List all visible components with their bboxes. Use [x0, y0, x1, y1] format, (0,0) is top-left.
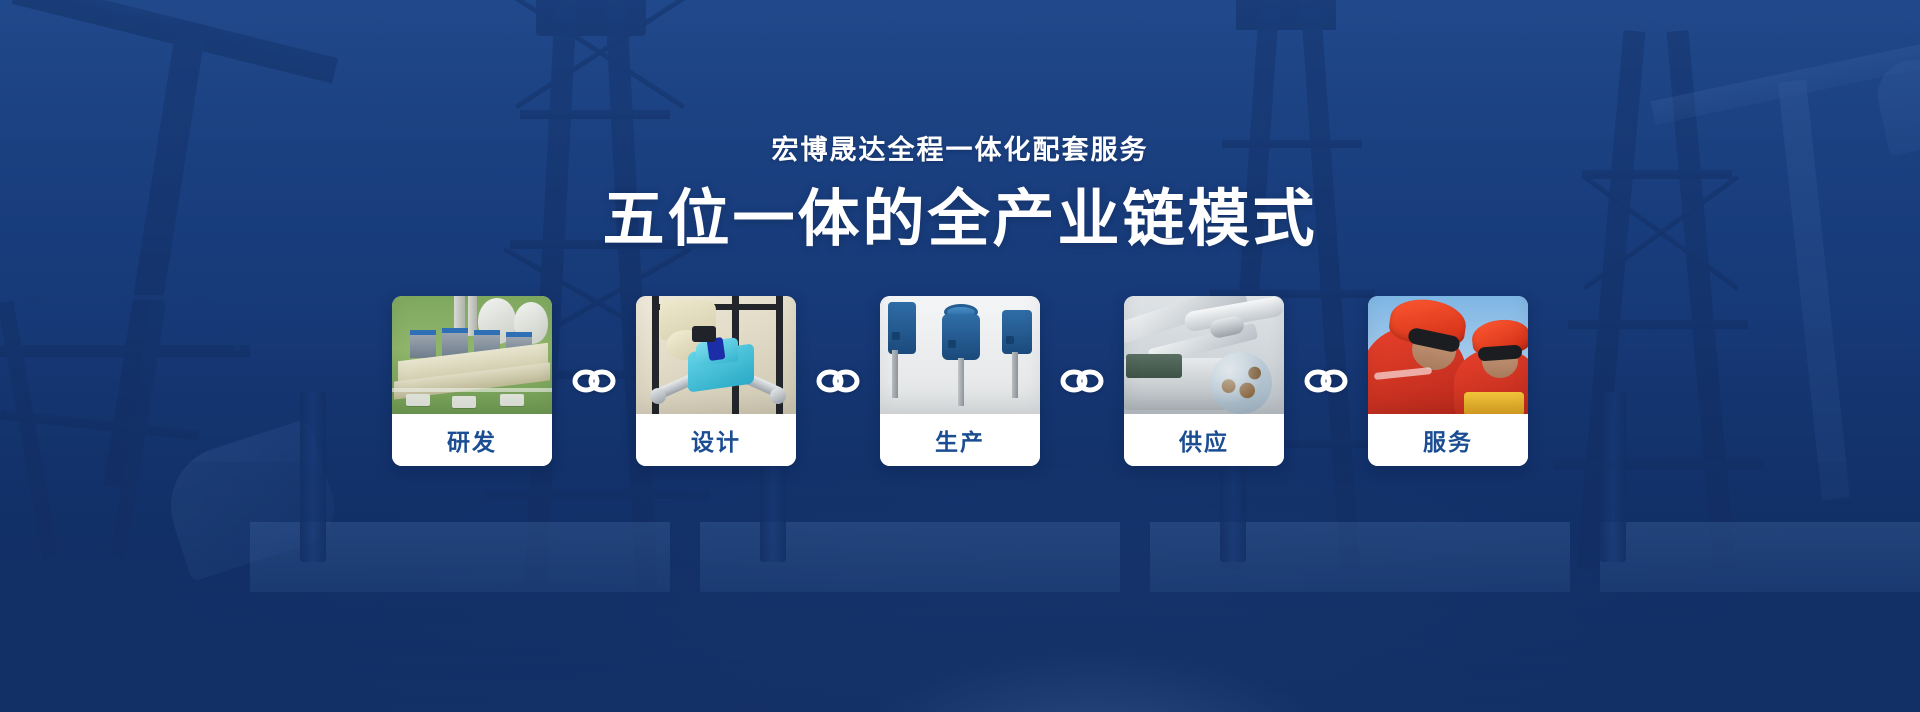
- chain-step-card-3[interactable]: 生产: [880, 296, 1040, 466]
- chain-step-card-1[interactable]: 研发: [392, 296, 552, 466]
- thumbnail-logistics: [1124, 296, 1284, 414]
- chain-link-icon-1: [552, 368, 636, 394]
- banner-content: 宏博晟达全程一体化配套服务 五位一体的全产业链模式 研发: [0, 0, 1920, 712]
- thumbnail-instruments: [880, 296, 1040, 414]
- banner-title: 五位一体的全产业链模式: [602, 187, 1317, 252]
- chain-step-label-4: 供应: [1124, 414, 1284, 466]
- chain-step-card-5[interactable]: 服务: [1368, 296, 1528, 466]
- hero-banner: 宏博晟达全程一体化配套服务 五位一体的全产业链模式 研发: [0, 0, 1920, 712]
- chain-link-icon-2: [796, 368, 880, 394]
- chain-link-icon-4: [1284, 368, 1368, 394]
- thumbnail-industrial-plant: [392, 296, 552, 414]
- chain-step-label-1: 研发: [392, 414, 552, 466]
- value-chain-row: 研发: [392, 296, 1528, 466]
- thumbnail-field-service: [1368, 296, 1528, 414]
- chain-step-label-5: 服务: [1368, 414, 1528, 466]
- chain-step-label-2: 设计: [636, 414, 796, 466]
- banner-subtitle: 宏博晟达全程一体化配套服务: [772, 128, 1149, 167]
- chain-step-card-4[interactable]: 供应: [1124, 296, 1284, 466]
- chain-step-card-2[interactable]: 设计: [636, 296, 796, 466]
- thumbnail-cad-assembly: [636, 296, 796, 414]
- chain-link-icon-3: [1040, 368, 1124, 394]
- chain-step-label-3: 生产: [880, 414, 1040, 466]
